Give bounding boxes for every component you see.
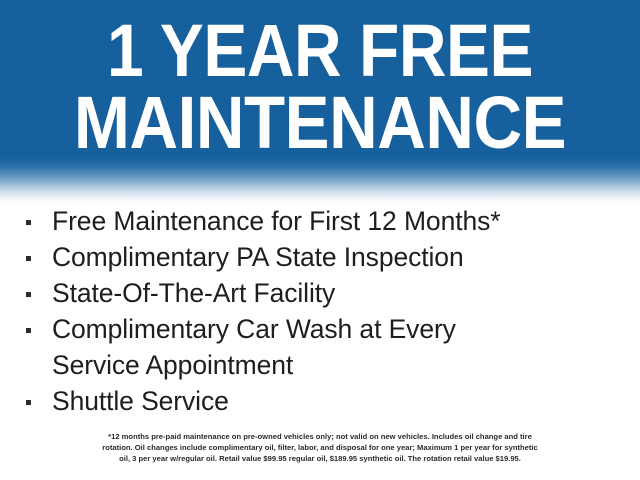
- headline-line-2: MAINTENANCE: [29, 86, 611, 160]
- square-bullet-icon: [26, 328, 31, 333]
- list-item-label: Free Maintenance for First 12 Months*: [52, 206, 500, 236]
- square-bullet-icon: [26, 292, 31, 297]
- promo-card: 1 YEAR FREE MAINTENANCE Free Maintenance…: [0, 0, 640, 480]
- headline-line-1: 1 YEAR FREE: [35, 14, 605, 88]
- feature-list: Free Maintenance for First 12 Months* Co…: [0, 203, 640, 419]
- list-item: State-Of-The-Art Facility: [0, 275, 640, 311]
- list-item-continuation: Service Appointment: [0, 347, 640, 383]
- headline-banner: 1 YEAR FREE MAINTENANCE: [0, 0, 640, 202]
- disclaimer-line: oil, 3 per year w/regular oil. Retail va…: [30, 453, 610, 464]
- square-bullet-icon: [26, 256, 31, 261]
- square-bullet-icon: [26, 220, 31, 225]
- list-item-label-wrapped: Service Appointment: [52, 350, 293, 380]
- list-item: Free Maintenance for First 12 Months*: [0, 203, 640, 239]
- list-item-label: State-Of-The-Art Facility: [52, 278, 335, 308]
- disclaimer-line: rotation. Oil changes include compliment…: [30, 442, 610, 453]
- disclaimer-text: *12 months pre-paid maintenance on pre-o…: [30, 431, 610, 465]
- banner-text-area: 1 YEAR FREE MAINTENANCE: [0, 0, 640, 165]
- list-item: Shuttle Service: [0, 383, 640, 419]
- list-item-label: Shuttle Service: [52, 386, 229, 416]
- disclaimer-line: *12 months pre-paid maintenance on pre-o…: [30, 431, 610, 442]
- list-item: Complimentary PA State Inspection: [0, 239, 640, 275]
- list-item: Complimentary Car Wash at Every: [0, 311, 640, 347]
- list-item-label: Complimentary Car Wash at Every: [52, 314, 456, 344]
- list-item-label: Complimentary PA State Inspection: [52, 242, 464, 272]
- square-bullet-icon: [26, 400, 31, 405]
